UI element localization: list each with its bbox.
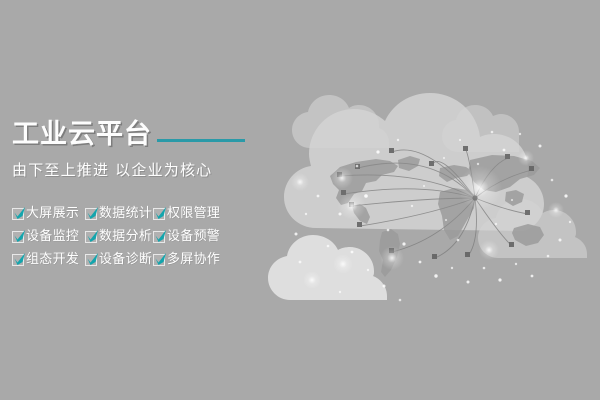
feature-row: 大屏展示 数据统计 权限管理 [12, 202, 262, 225]
check-icon [153, 231, 165, 243]
check-icon [12, 254, 24, 266]
page-title: 工业云平台 [12, 120, 152, 150]
sparkle-particles [291, 131, 571, 302]
check-icon [85, 231, 97, 243]
cloud-shape-bottom-left [268, 235, 387, 300]
feature-item[interactable]: 设备监控 [12, 229, 85, 244]
cloud-shape-back-right [442, 105, 519, 152]
feature-label: 设备监控 [26, 229, 79, 244]
feature-item[interactable]: 组态开发 [12, 252, 85, 267]
world-map-network [330, 146, 544, 277]
feature-checklist: 大屏展示 数据统计 权限管理 设备监控 [12, 202, 262, 271]
check-icon [85, 208, 97, 220]
hero-banner: 工业云平台 由下至上推进 以企业为核心 大屏展示 数据统计 [0, 0, 600, 400]
cloud-shape-back-left [292, 95, 389, 148]
feature-label: 数据分析 [99, 229, 152, 244]
feature-item[interactable]: 数据统计 [85, 206, 153, 221]
page-subtitle: 由下至上推进 以企业为核心 [12, 161, 272, 180]
feature-item[interactable]: 多屏协作 [153, 252, 233, 267]
feature-label: 大屏展示 [26, 206, 79, 221]
check-icon [12, 231, 24, 243]
network-connection-lines [340, 150, 532, 258]
feature-item[interactable]: 设备诊断 [85, 252, 153, 267]
network-hub-node [472, 195, 477, 200]
feature-item[interactable]: 设备预警 [153, 229, 233, 244]
title-underline-rule [157, 139, 245, 142]
network-node-markers [337, 146, 534, 259]
feature-row: 设备监控 数据分析 设备预警 [12, 225, 262, 248]
cloud-world-network-illustration [0, 0, 600, 400]
check-icon [12, 208, 24, 220]
feature-label: 组态开发 [26, 252, 79, 267]
cloud-shape-right [478, 199, 587, 258]
feature-item[interactable]: 大屏展示 [12, 206, 85, 221]
check-icon [85, 254, 97, 266]
world-map-landmasses [330, 155, 544, 277]
hero-text-block: 工业云平台 由下至上推进 以企业为核心 [12, 118, 272, 180]
feature-item[interactable]: 数据分析 [85, 229, 153, 244]
feature-label: 设备诊断 [99, 252, 152, 267]
feature-row: 组态开发 设备诊断 多屏协作 [12, 248, 262, 271]
feature-label: 多屏协作 [167, 252, 220, 267]
feature-label: 设备预警 [167, 229, 220, 244]
title-row: 工业云平台 [12, 118, 272, 152]
feature-label: 数据统计 [99, 206, 152, 221]
cloud-shape-main [284, 93, 544, 231]
check-icon [153, 254, 165, 266]
feature-item[interactable]: 权限管理 [153, 206, 233, 221]
feature-label: 权限管理 [167, 206, 220, 221]
check-icon [153, 208, 165, 220]
